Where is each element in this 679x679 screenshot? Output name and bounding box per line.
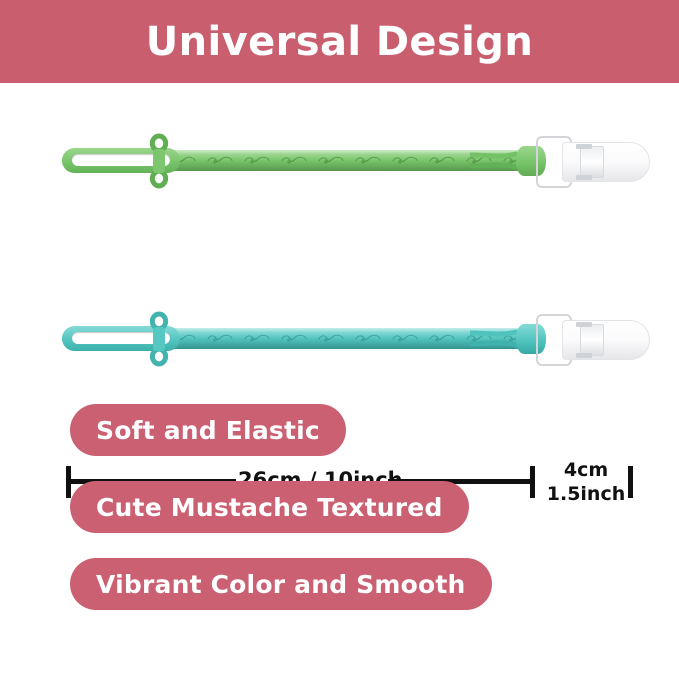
dimension-annotations: 26cm / 10inch 4cm 1.5inch [0,228,679,288]
clip-jaw [580,146,604,178]
clip-green [524,126,654,198]
clip-teal [524,304,654,376]
pacifier-clip-green [0,122,679,202]
feature-pill-cute-mustache-textured: Cute Mustache Textured [70,481,469,533]
clip-notch-top [576,144,592,149]
clip-notch-top [576,322,592,327]
feature-pill-vibrant-color-and-smooth: Vibrant Color and Smooth [70,558,492,610]
feature-row: Soft and Elastic [70,404,630,456]
feature-list: Soft and Elastic Cute Mustache Textured … [70,404,630,635]
mustache-slider-teal [142,310,176,368]
page-title: Universal Design [146,22,533,62]
mustache-slider-green [142,132,176,190]
clip-jaw [580,324,604,356]
pacifier-clip-teal [0,300,679,380]
header-banner: Universal Design [0,0,679,83]
clip-notch-bottom [576,353,592,358]
feature-row: Vibrant Color and Smooth [70,558,630,610]
feature-row: Cute Mustache Textured [70,481,630,533]
clip-notch-bottom [576,175,592,180]
feature-pill-soft-and-elastic: Soft and Elastic [70,404,346,456]
